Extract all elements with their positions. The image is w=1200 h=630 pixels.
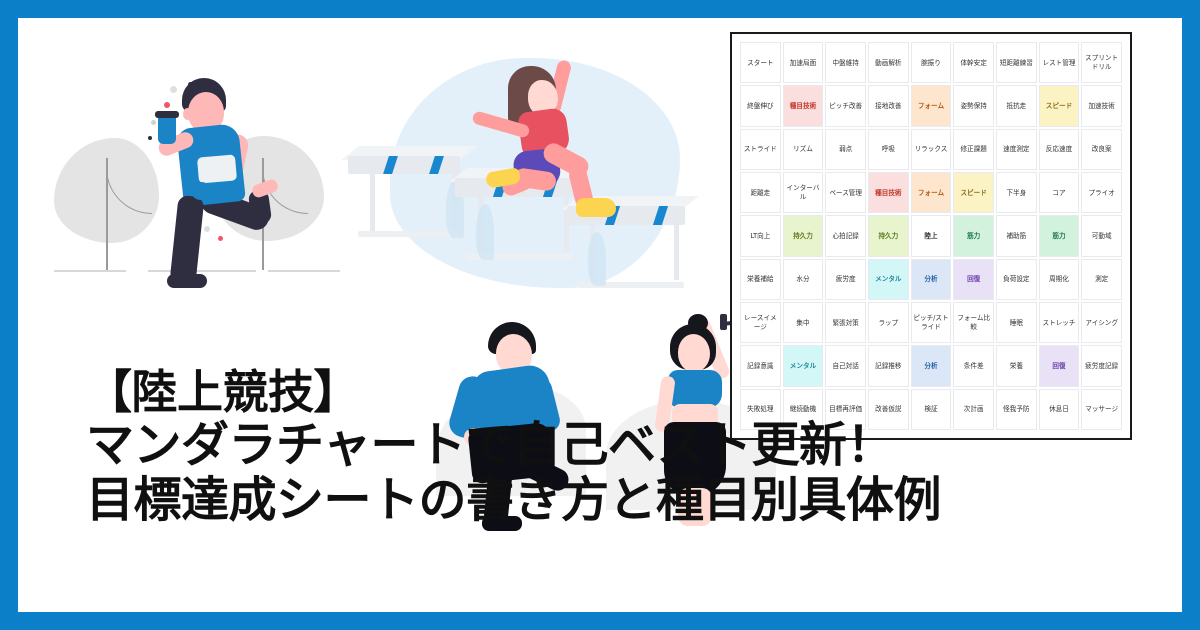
mandala-cell[interactable]: スピード xyxy=(1039,85,1080,126)
mandala-cell[interactable]: 修正課題 xyxy=(953,129,994,170)
mandala-cell[interactable]: リラックス xyxy=(911,129,952,170)
mandala-cell[interactable]: 下半身 xyxy=(996,172,1037,213)
mandala-cell[interactable]: 持久力 xyxy=(868,215,909,256)
mandala-cell[interactable]: 距離走 xyxy=(740,172,781,213)
mandala-cell[interactable]: 負荷設定 xyxy=(996,259,1037,300)
mandala-cell[interactable]: 改良案 xyxy=(1081,129,1122,170)
mandala-cell[interactable]: 姿勢保持 xyxy=(953,85,994,126)
mandala-cell[interactable]: 緊張対策 xyxy=(825,302,866,343)
mandala-cell[interactable]: 加速局面 xyxy=(783,42,824,83)
speck xyxy=(170,86,177,93)
mandala-cell[interactable]: 動画解析 xyxy=(868,42,909,83)
dumbbell-weight-left xyxy=(720,314,727,330)
mandala-cell[interactable]: 中盤維持 xyxy=(825,42,866,83)
mandala-cell[interactable]: レスト管理 xyxy=(1039,42,1080,83)
mandala-cell[interactable]: 陸上 xyxy=(911,215,952,256)
mandala-cell[interactable]: リズム xyxy=(783,129,824,170)
hurdle-base xyxy=(358,231,462,237)
jogger-hand xyxy=(191,182,211,200)
hurdler-figure xyxy=(480,66,620,226)
title-line-2: マンダラチャートで自己ベスト更新！ xyxy=(86,418,1086,473)
hurdle-bar xyxy=(348,156,460,174)
mandala-cell[interactable]: ピッチ/ストライド xyxy=(911,302,952,343)
title-line-3: 目標達成シートの書き方と種目別具体例 xyxy=(86,473,1086,528)
mandala-cell[interactable]: 心拍記録 xyxy=(825,215,866,256)
mandala-cell[interactable]: 睡眠 xyxy=(996,302,1037,343)
mandala-cell[interactable]: プライオ xyxy=(1081,172,1122,213)
mandala-cell[interactable]: レースイメージ xyxy=(740,302,781,343)
speck xyxy=(148,136,152,140)
jogger-figure xyxy=(136,78,286,283)
mandala-cell[interactable]: 終盤伸び xyxy=(740,85,781,126)
page-frame: スタート加速局面中盤維持動画解析腕振り体幹安定短距離練習レスト管理スプリントドリ… xyxy=(18,18,1182,612)
hurdler-front-shoe xyxy=(576,198,616,217)
mandala-cell[interactable]: 疲労度 xyxy=(825,259,866,300)
mandala-cell[interactable]: メンタル xyxy=(868,259,909,300)
mandala-cell[interactable]: 短距離練習 xyxy=(996,42,1037,83)
mandala-cell[interactable]: 速度測定 xyxy=(996,129,1037,170)
mandala-cell[interactable]: ストライド xyxy=(740,129,781,170)
mandala-cell[interactable]: 回復 xyxy=(953,259,994,300)
speck xyxy=(188,82,193,87)
mandala-cell[interactable]: ピッチ改善 xyxy=(825,85,866,126)
mandala-cell[interactable]: 体幹安定 xyxy=(953,42,994,83)
mandala-cell[interactable]: ストレッチ xyxy=(1039,302,1080,343)
mandala-cell[interactable]: インターバル xyxy=(783,172,824,213)
mandala-cell[interactable]: 接地改善 xyxy=(868,85,909,126)
mandala-cell[interactable]: フォーム xyxy=(911,172,952,213)
hurdle-leg xyxy=(674,224,679,280)
mandala-cell[interactable]: ラップ xyxy=(868,302,909,343)
mandala-cell[interactable]: 種目技術 xyxy=(868,172,909,213)
mandala-cell[interactable]: 筋力 xyxy=(953,215,994,256)
coffee-cup-icon xyxy=(158,116,176,144)
mandala-cell[interactable]: アイシング xyxy=(1081,302,1122,343)
mandala-cell[interactable]: ペース管理 xyxy=(825,172,866,213)
mandala-cell[interactable]: 種目技術 xyxy=(783,85,824,126)
mandala-cell[interactable]: 反応速度 xyxy=(1039,129,1080,170)
mandala-cell[interactable]: 水分 xyxy=(783,259,824,300)
mandala-cell[interactable]: 栄養補給 xyxy=(740,259,781,300)
mandala-cell[interactable]: フォーム xyxy=(911,85,952,126)
mandala-cell[interactable]: 持久力 xyxy=(783,215,824,256)
mandala-cell[interactable]: 分析 xyxy=(911,259,952,300)
jogger-front-leg xyxy=(169,195,204,285)
jogger-race-bib xyxy=(197,154,237,183)
ground-line-left xyxy=(54,270,126,272)
mandala-cell[interactable]: スピード xyxy=(953,172,994,213)
mandala-cell[interactable]: コア xyxy=(1039,172,1080,213)
speck xyxy=(194,244,199,249)
mandala-cell[interactable]: 腕振り xyxy=(911,42,952,83)
jogger-front-shoe xyxy=(167,274,207,288)
mandala-cell[interactable]: 疲労度記録 xyxy=(1081,345,1122,386)
mandala-cell[interactable]: 抵抗走 xyxy=(996,85,1037,126)
speck xyxy=(164,102,170,108)
coffee-cup-lid xyxy=(155,111,179,118)
mandala-cell[interactable]: 集中 xyxy=(783,302,824,343)
mandala-cell[interactable]: 筋力 xyxy=(1039,215,1080,256)
mandala-cell[interactable]: マッサージ xyxy=(1081,389,1122,430)
hurdle-shadow xyxy=(588,232,606,286)
mandala-cell[interactable]: 補助筋 xyxy=(996,215,1037,256)
mandala-cell[interactable]: 弱点 xyxy=(825,129,866,170)
speck xyxy=(204,226,210,232)
jogger-ear xyxy=(183,108,192,120)
mandala-cell[interactable]: 測定 xyxy=(1081,259,1122,300)
title-line-1: 【陸上競技】 xyxy=(86,366,1086,418)
mandala-cell[interactable]: フォーム比較 xyxy=(953,302,994,343)
page-title: 【陸上競技】 マンダラチャートで自己ベスト更新！ 目標達成シートの書き方と種目別… xyxy=(86,366,1086,528)
mandala-cell[interactable]: LT向上 xyxy=(740,215,781,256)
hurdle-leg xyxy=(370,173,375,235)
speck xyxy=(218,236,223,241)
mandala-cell[interactable]: 加速技術 xyxy=(1081,85,1122,126)
mandala-cell[interactable]: 周期化 xyxy=(1039,259,1080,300)
mandala-cell[interactable]: 呼吸 xyxy=(868,129,909,170)
mandala-cell[interactable]: 可動域 xyxy=(1081,215,1122,256)
speck xyxy=(151,120,156,125)
mandala-cell[interactable]: スプリントドリル xyxy=(1081,42,1122,83)
mandala-cell[interactable]: スタート xyxy=(740,42,781,83)
